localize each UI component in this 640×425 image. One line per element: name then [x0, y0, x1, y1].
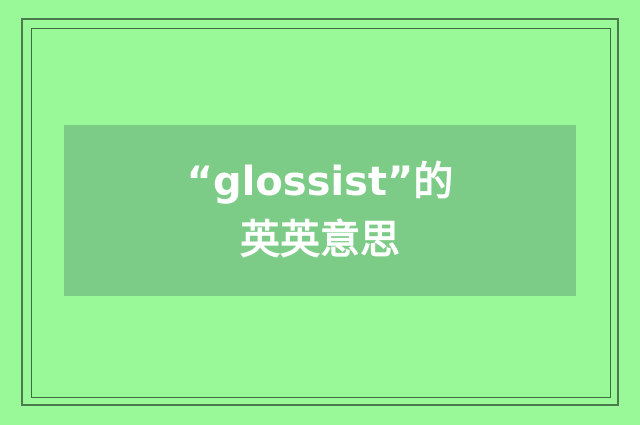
title-banner-panel: “glossist”的英英意思 — [64, 125, 576, 296]
page-root: “glossist”的英英意思 — [0, 0, 640, 425]
page-title: “glossist”的英英意思 — [185, 153, 455, 269]
